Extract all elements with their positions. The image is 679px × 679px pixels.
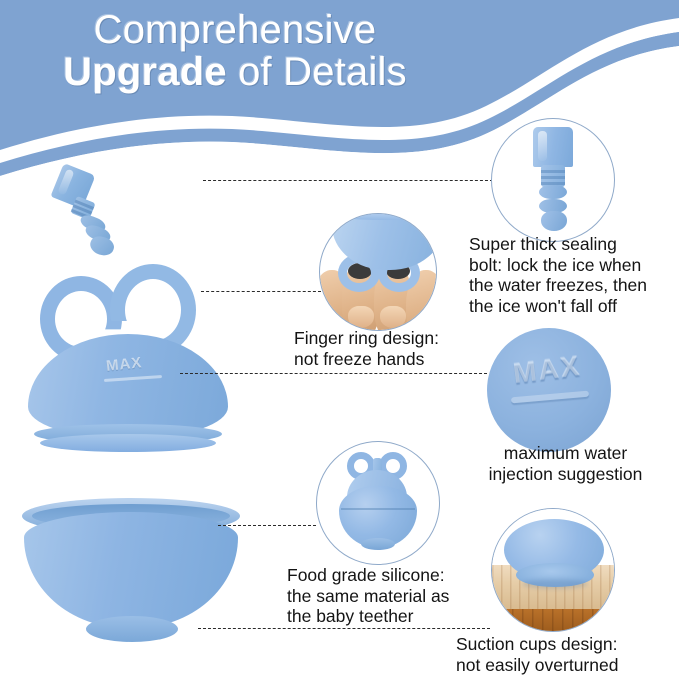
fingernail bbox=[348, 306, 374, 328]
product-view-lid-with-handles: MAX bbox=[28, 248, 248, 458]
infographic-page: Comprehensive Upgrade of Details MAX bbox=[0, 0, 679, 679]
suction-cup-on-wood-photo bbox=[492, 509, 615, 632]
title-emphasis: Upgrade bbox=[63, 50, 227, 94]
bolt-cap-highlight bbox=[57, 169, 74, 196]
bolt-cap-highlight bbox=[538, 131, 547, 161]
caption-finger-ring: Finger ring design: not freeze hands bbox=[294, 328, 474, 369]
title-line-2: Upgrade of Details bbox=[0, 50, 470, 95]
bowl-body bbox=[24, 512, 238, 628]
finger-ring-photo bbox=[320, 214, 437, 331]
bolt-tip bbox=[541, 211, 567, 231]
page-title: Comprehensive Upgrade of Details bbox=[0, 8, 470, 95]
lid-skirt-rib bbox=[40, 434, 216, 452]
sealing-bolt-photo bbox=[525, 127, 583, 235]
detail-circle-food-grade-silicone bbox=[316, 441, 440, 565]
detail-circle-suction-cups bbox=[491, 508, 615, 632]
caption-sealing-bolt: Super thick sealing bolt: lock the ice w… bbox=[469, 234, 679, 316]
suction-foot bbox=[361, 538, 395, 550]
title-line-1: Comprehensive bbox=[0, 8, 470, 53]
wood-surface-dark bbox=[492, 609, 615, 632]
bolt-seal-ring bbox=[539, 185, 567, 199]
detail-circle-finger-ring bbox=[319, 213, 437, 331]
bolt-thread-ridge bbox=[541, 176, 565, 179]
fingernail bbox=[380, 306, 406, 328]
bowl-foot bbox=[86, 616, 178, 642]
max-embossed-line bbox=[511, 391, 589, 404]
bolt-cap bbox=[533, 127, 573, 167]
detail-circle-max-marking: MAX bbox=[487, 328, 611, 452]
suction-cup-shadow bbox=[522, 579, 588, 589]
caption-food-grade-silicone: Food grade silicone: the same material a… bbox=[287, 565, 487, 627]
lid-rim-closeup bbox=[338, 213, 437, 220]
caption-suction-cups: Suction cups design: not easily overturn… bbox=[456, 634, 671, 675]
bolt-thread-ridge bbox=[541, 170, 565, 173]
leader-line-sealing-bolt bbox=[203, 180, 493, 181]
assembled-ice-ball-maker-photo bbox=[317, 442, 440, 565]
max-embossed-text: MAX bbox=[511, 350, 583, 390]
bolt-neck bbox=[541, 165, 565, 187]
detail-circle-sealing-bolt bbox=[491, 118, 615, 242]
body-seam-line bbox=[341, 508, 415, 510]
caption-max: maximum water injection suggestion bbox=[478, 443, 653, 484]
leader-line-max bbox=[180, 373, 487, 374]
leader-line-food-grade bbox=[218, 525, 316, 526]
title-line-2-rest: of Details bbox=[227, 50, 407, 94]
leader-line-suction-cups bbox=[198, 628, 490, 629]
leader-line-finger-ring bbox=[201, 291, 321, 292]
